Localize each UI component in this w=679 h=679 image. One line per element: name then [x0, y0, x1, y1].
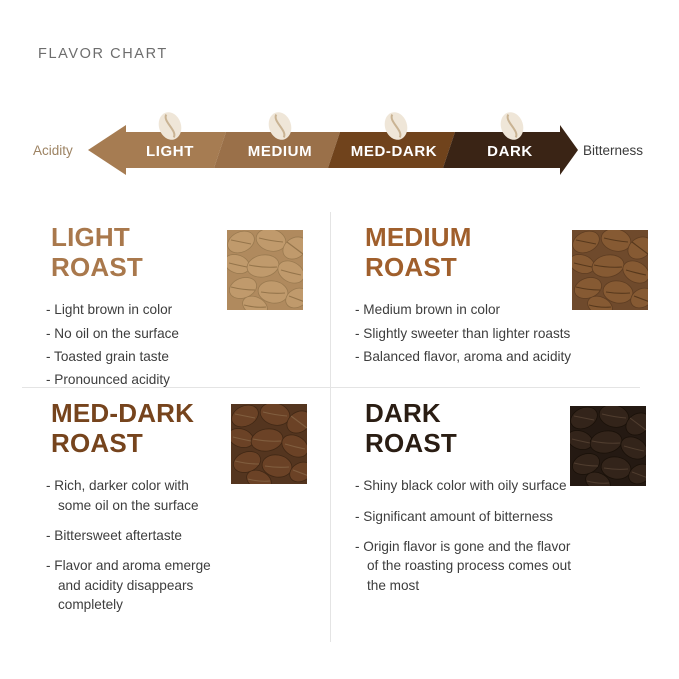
list-item: - Flavor and aroma emerge and acidity di… — [46, 556, 328, 614]
list-item: - Slightly sweeter than lighter roasts — [355, 324, 655, 343]
segment-label-dark: DARK — [487, 143, 533, 160]
dark-roast-bullet-list: - Shiny black color with oily surface - … — [355, 476, 655, 594]
list-item: - Bittersweet aftertaste — [46, 526, 328, 545]
bitterness-axis-label: Bitterness — [583, 143, 643, 158]
list-item: - Balanced flavor, aroma and acidity — [355, 347, 655, 366]
bitterness-arrowhead — [560, 125, 578, 175]
segment-label-medium: MEDIUM — [248, 143, 312, 160]
vertical-divider — [330, 212, 331, 642]
list-item: - Origin flavor is gone and the flavor o… — [355, 537, 655, 595]
roast-scale-bar — [0, 108, 679, 186]
dark-roast-beans-photo — [570, 406, 646, 486]
medium-roast-bullet-list: - Medium brown in color - Slightly sweet… — [355, 300, 655, 366]
list-item: - Pronounced acidity — [46, 370, 328, 389]
list-item: - No oil on the surface — [46, 324, 328, 343]
light-roast-bullet-list: - Light brown in color - No oil on the s… — [38, 300, 328, 389]
medium-roast-beans-photo — [572, 230, 648, 310]
med-dark-roast-bullet-list: - Rich, darker color with some oil on th… — [38, 476, 328, 614]
light-roast-beans-photo — [227, 230, 303, 310]
page-title: FLAVOR CHART — [38, 46, 168, 62]
acidity-axis-label: Acidity — [33, 143, 73, 158]
list-item: - Significant amount of bitterness — [355, 507, 655, 526]
med-dark-roast-beans-photo — [231, 404, 307, 484]
segment-label-med-dark: MED-DARK — [351, 143, 437, 160]
list-item: - Toasted grain taste — [46, 347, 328, 366]
segment-label-light: LIGHT — [146, 143, 194, 160]
